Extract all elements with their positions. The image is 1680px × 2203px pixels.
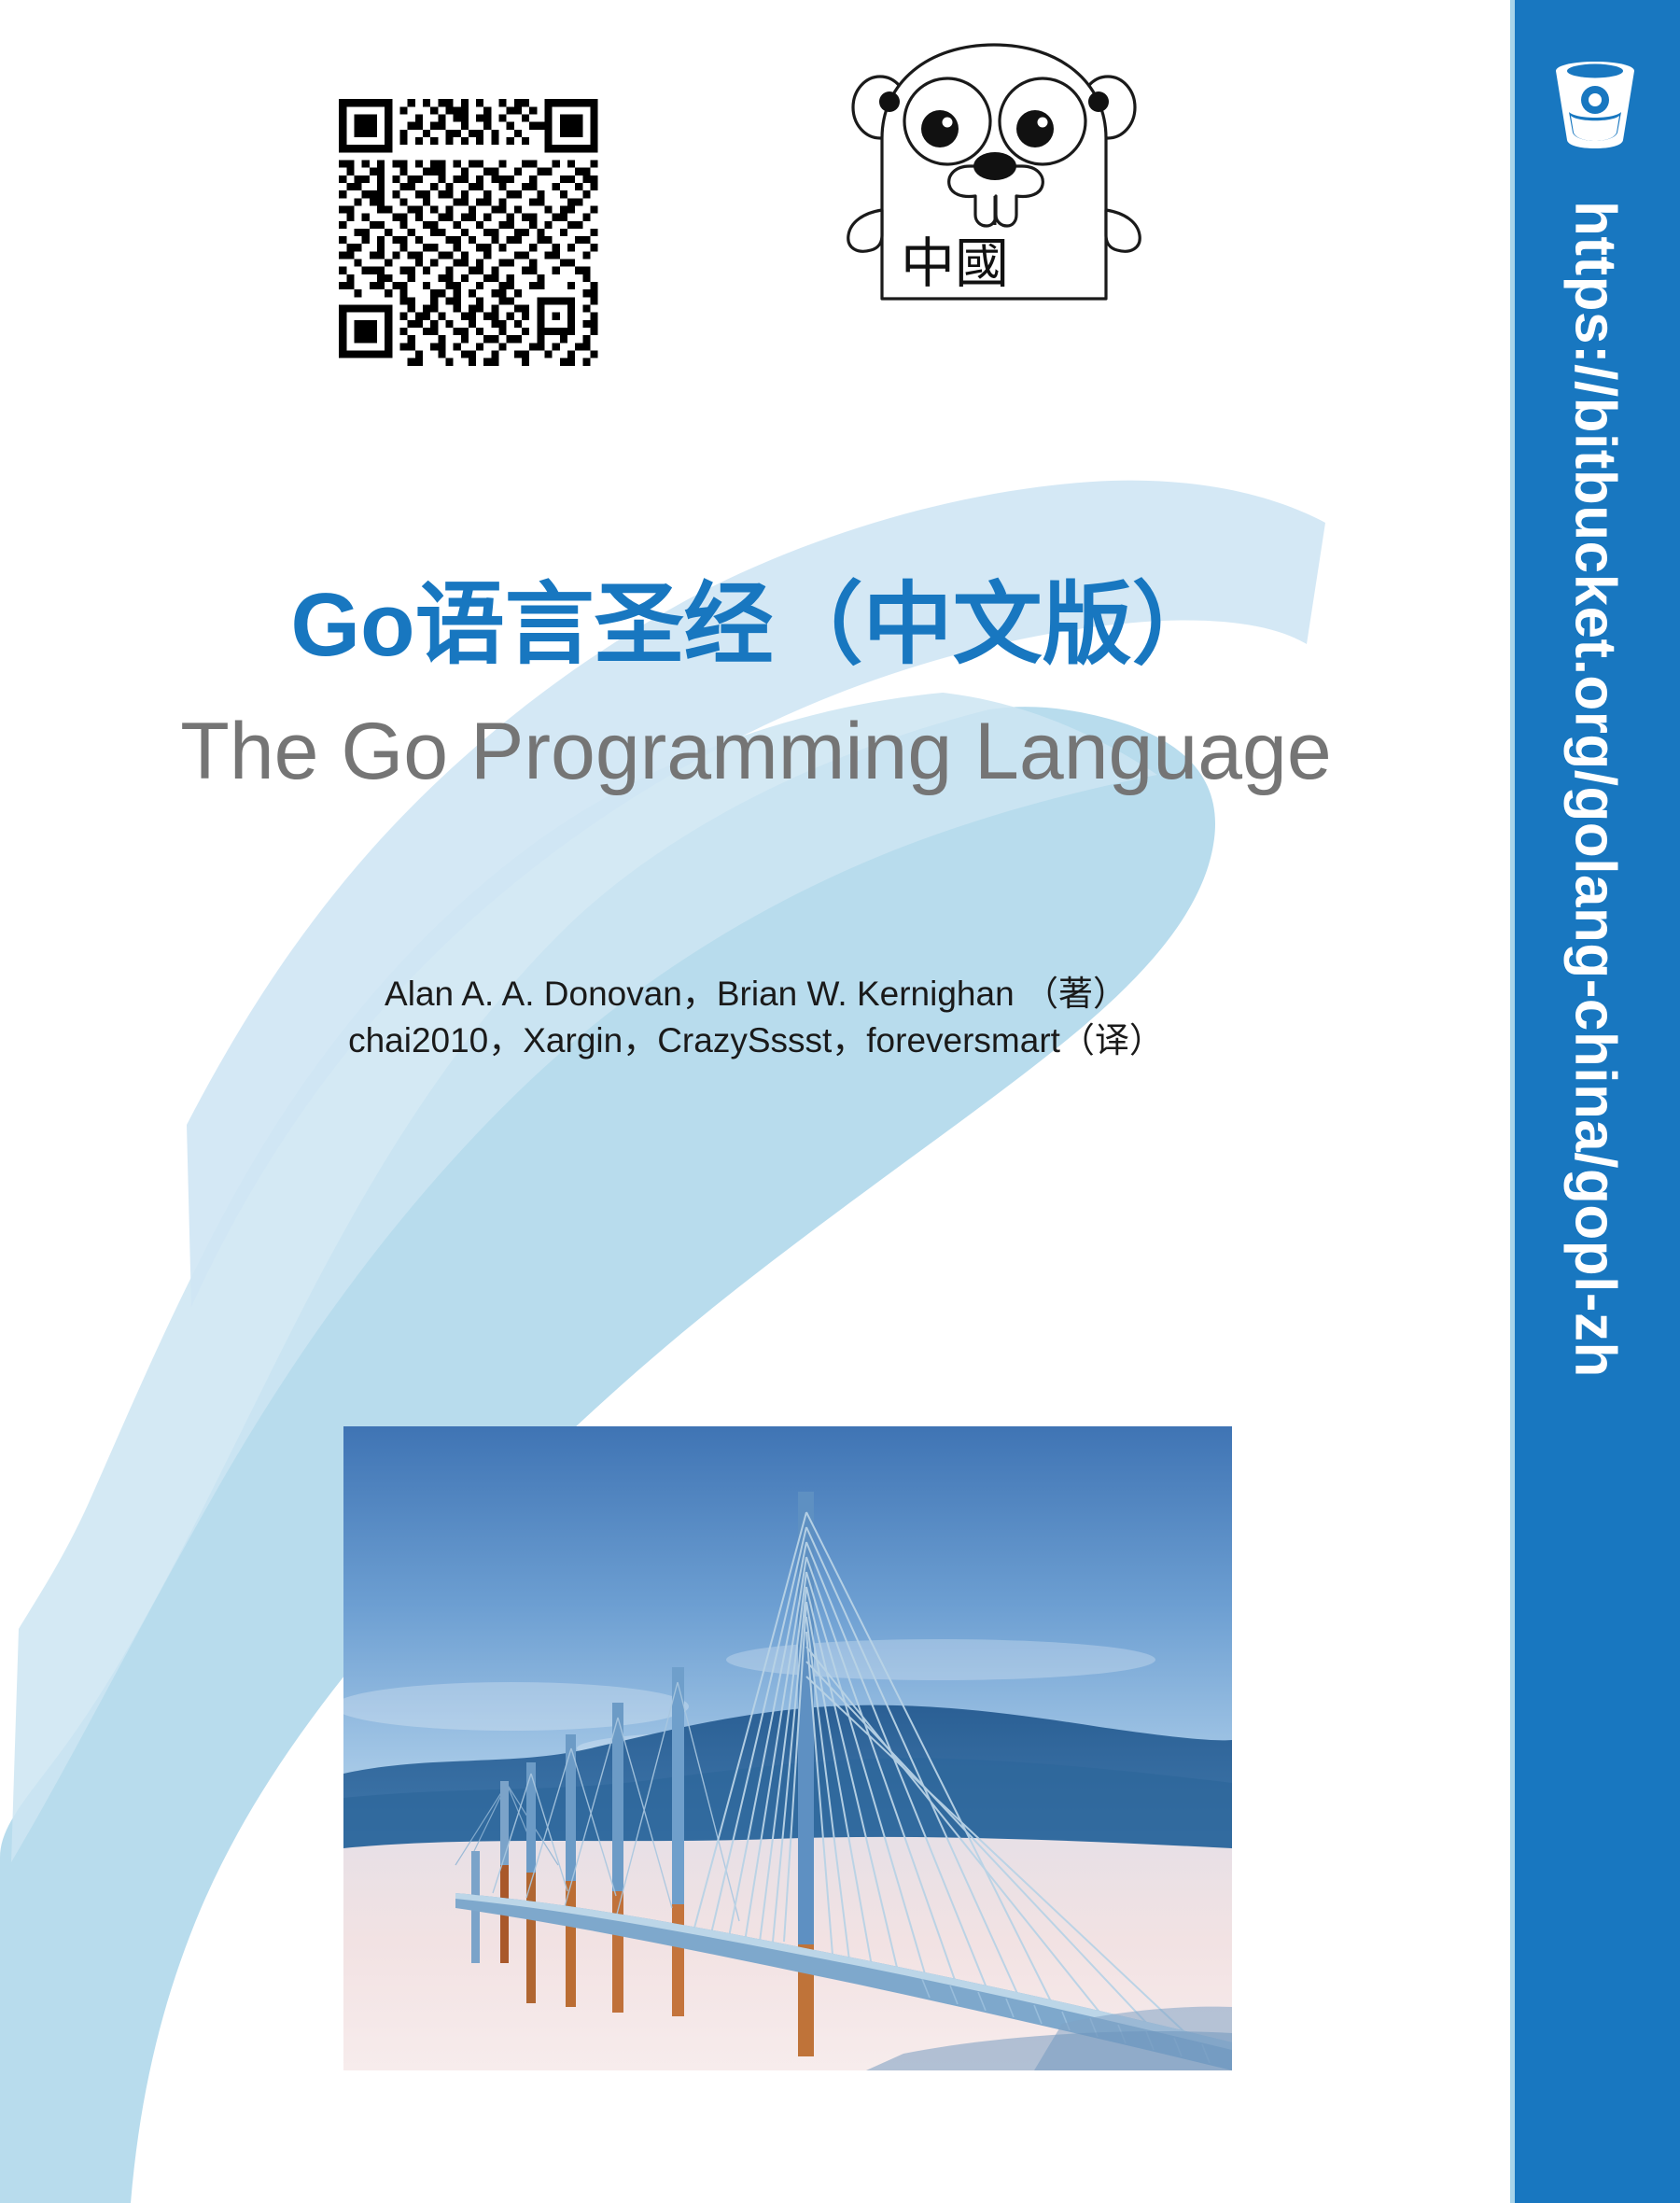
bridge-illustration — [343, 1426, 1232, 2070]
gopher-illustration: 中國 — [835, 28, 1153, 308]
page-subtitle-english: The Go Programming Language — [0, 709, 1512, 793]
bitbucket-icon — [1550, 58, 1640, 151]
spine-edge-highlight — [1510, 0, 1515, 2203]
repository-url[interactable]: https://bitbucket.org/golang-china/gopl-… — [1562, 201, 1629, 2068]
authors-block: Alan A. A. Donovan，Brian W. Kernighan （著… — [0, 971, 1512, 1064]
qr-code[interactable] — [331, 91, 613, 373]
gopher-belly-char-1: 中國 — [901, 233, 1009, 294]
spine-banner: https://bitbucket.org/golang-china/gopl-… — [1510, 0, 1680, 2203]
book-cover: 中國 Go语言圣经（中文版） The Go Programming Langua… — [0, 0, 1680, 2203]
page-title-chinese: Go语言圣经（中文版） — [0, 579, 1512, 673]
cover-photo-bridge — [343, 1426, 1232, 2070]
authors-line-translators: chai2010，Xargin，CrazySssst，foreversmart（… — [0, 1017, 1512, 1064]
authors-line-original: Alan A. A. Donovan，Brian W. Kernighan （著… — [0, 971, 1512, 1017]
bitbucket-logo — [1550, 58, 1640, 151]
go-gopher-mascot: 中國 — [835, 28, 1153, 308]
qr-code-image — [331, 91, 613, 373]
gopher-belly-characters: 中國 — [901, 233, 1009, 294]
